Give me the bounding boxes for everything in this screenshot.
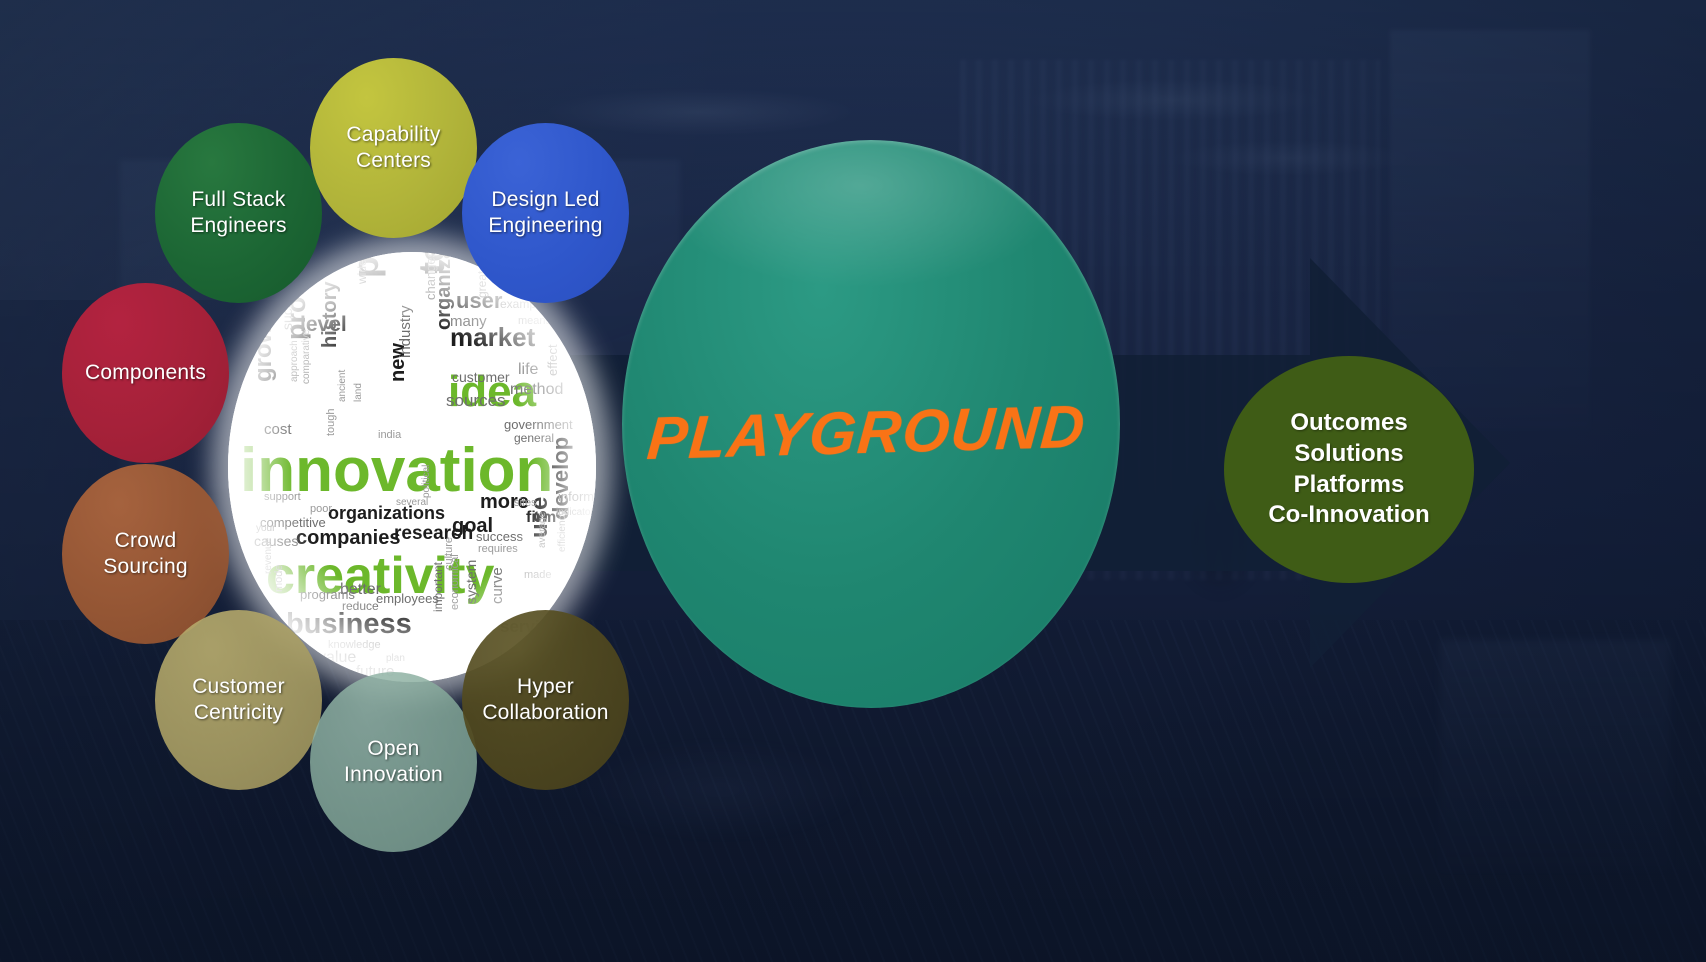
capability-label: Full StackEngineers	[190, 187, 286, 240]
capability-label: CrowdSourcing	[103, 528, 187, 581]
outcomes-label: OutcomesSolutionsPlatformsCo-Innovation	[1268, 408, 1429, 531]
capability-label: CustomerCentricity	[192, 674, 285, 727]
word-cloud-word: government	[504, 418, 573, 431]
capability-circle-full-stack-engineers[interactable]: Full StackEngineers	[155, 123, 322, 303]
slide-canvas: innovationcreativitytechnologyproductide…	[0, 0, 1706, 962]
word-cloud-word: curve	[490, 567, 505, 604]
word-cloud-word: india	[378, 430, 401, 441]
capability-label: HyperCollaboration	[482, 674, 608, 727]
word-cloud-word: reduce	[342, 600, 379, 612]
word-cloud-word: sites	[514, 498, 537, 509]
capability-label: Components	[85, 360, 206, 386]
word-cloud-word: system	[464, 560, 478, 604]
word-cloud-word: general	[514, 432, 554, 444]
word-cloud-word: approach	[290, 340, 300, 382]
word-cloud-word: several	[396, 498, 428, 508]
word-cloud-word: employees	[376, 592, 439, 605]
word-cloud-word: industry	[398, 305, 413, 358]
outcomes-ellipse[interactable]: OutcomesSolutionsPlatformsCo-Innovation	[1224, 356, 1474, 583]
capability-label: CapabilityCenters	[346, 122, 440, 175]
word-cloud-word: made	[524, 570, 552, 581]
word-cloud-word: your	[256, 524, 275, 534]
word-cloud-word: poor	[310, 504, 332, 515]
word-cloud-word: life	[518, 362, 538, 378]
word-cloud-word: average	[538, 512, 548, 548]
capability-label: OpenInnovation	[344, 736, 443, 789]
word-cloud-word: means	[518, 316, 551, 327]
capability-circle-capability-centers[interactable]: CapabilityCenters	[310, 58, 477, 238]
word-cloud-word: method	[510, 382, 563, 398]
word-cloud-word: many	[450, 314, 487, 329]
capability-label: Design LedEngineering	[488, 187, 602, 240]
word-cloud-word: cost	[264, 422, 292, 437]
word-cloud-word: efficiency	[558, 510, 568, 552]
word-cloud-word: success	[476, 530, 523, 543]
word-cloud-word: widely	[356, 252, 368, 284]
word-cloud-word: support	[264, 492, 301, 503]
word-cloud-word: causes	[254, 534, 298, 548]
word-cloud-word: effect	[546, 344, 559, 376]
word-cloud-word: requires	[478, 544, 518, 555]
word-cloud-word: such	[280, 300, 294, 330]
playground-title: PLAYGROUND	[645, 392, 1081, 473]
word-cloud-word: knowledge	[328, 640, 381, 651]
word-cloud-word: comparative	[302, 330, 312, 384]
word-cloud-word: plan	[386, 654, 405, 664]
word-cloud-word: customer	[452, 370, 510, 384]
capability-circle-components[interactable]: Components	[62, 283, 229, 463]
word-cloud-word: history	[320, 281, 340, 348]
capability-circle-hyper-collaboration[interactable]: HyperCollaboration	[462, 610, 629, 790]
word-cloud-word: political	[422, 465, 432, 498]
word-cloud-word: tough	[326, 408, 337, 436]
word-cloud-word: business	[286, 610, 412, 639]
word-cloud-word: changes	[424, 252, 437, 300]
capability-circle-design-led-engineering[interactable]: Design LedEngineering	[462, 123, 629, 303]
word-cloud-word: mode	[274, 564, 285, 592]
word-cloud-word: value	[318, 650, 356, 666]
word-cloud-word: culture	[444, 537, 455, 570]
capability-circle-open-innovation[interactable]: OpenInnovation	[310, 672, 477, 852]
word-cloud-word: revenue	[264, 538, 274, 574]
word-cloud-word: sources	[446, 392, 506, 409]
capability-circle-customer-centricity[interactable]: CustomerCentricity	[155, 610, 322, 790]
word-cloud-word: ancient	[338, 370, 348, 402]
word-cloud-word: growth	[252, 302, 276, 382]
word-cloud-word: land	[354, 383, 364, 402]
word-cloud-word: companies	[296, 528, 400, 548]
word-cloud-word: informs	[558, 490, 596, 503]
